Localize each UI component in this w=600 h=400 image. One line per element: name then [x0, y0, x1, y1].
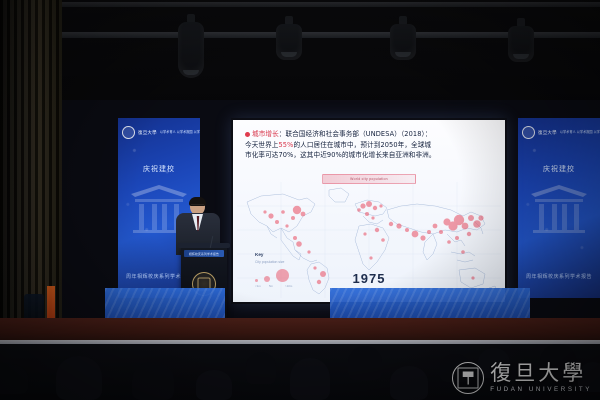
audience-head	[0, 364, 28, 394]
map-year-label: 1975	[353, 271, 386, 286]
banner-tagline: 以学术育人 以学术报国 以学术立功 以学术铸魂	[560, 130, 600, 134]
stage-banner-right: 復旦大學 以学术育人 以学术报国 以学术立功 以学术铸魂 庆祝建校 周年相辉校庆…	[518, 118, 600, 298]
audience-head	[348, 346, 382, 380]
watermark-en: FUDAN UNIVERSITY	[490, 386, 592, 393]
audience-head	[290, 358, 330, 400]
audience-head	[196, 370, 232, 400]
stage-flag	[47, 286, 55, 322]
legend-label-small: <1m	[255, 284, 265, 288]
fudan-seal-icon	[452, 362, 484, 394]
glasses-icon	[191, 204, 204, 208]
banner-logo-cn: 復旦大學	[538, 130, 557, 136]
legend-subtitle: City population size	[255, 260, 325, 264]
legend-title: Key	[255, 252, 325, 257]
legend-dot-medium-icon	[264, 276, 270, 282]
projection-screen: 城市增长：联合国经济和社会事务部（UNDESA）（2018）： 今天世界上55%…	[231, 118, 507, 304]
auditorium-scene: 復旦大學 以学术育人 以学术报国 以学术立功 以学术铸魂 庆祝建校 周年相辉校庆…	[0, 0, 600, 400]
banner-headline: 庆祝建校	[518, 164, 600, 174]
slide-bullet-label: 城市增长	[252, 130, 279, 138]
gate-archway-icon	[527, 180, 591, 236]
slide-line-2b: 的人口居住在城市中，预计到2050年，全球城	[293, 141, 431, 149]
slide-pct: 55%	[278, 141, 293, 149]
banner-tagline: 以学术育人 以学术报国 以学术立功 以学术铸魂	[160, 130, 200, 134]
podium-top-surface	[178, 243, 230, 248]
ceiling	[0, 0, 600, 112]
audience-head	[246, 352, 276, 384]
banner-footline: 周年相辉校庆系列学术报告	[518, 273, 600, 280]
podium-sign: 相辉校庆系列学术报告	[184, 250, 224, 257]
slide-line-3: 市化率可达70%，这其中近90%的城市化增长来自亚洲和非洲。	[245, 151, 436, 159]
audience-head	[390, 366, 428, 400]
legend-label-medium: 5m	[269, 284, 281, 288]
presentation-slide: 城市增长：联合国经济和社会事务部（UNDESA）（2018）： 今天世界上55%…	[233, 120, 505, 302]
stage-led-panel-left	[105, 288, 225, 322]
fudan-seal-icon	[122, 126, 135, 139]
podium-sign-text: 相辉校庆系列学术报告	[189, 252, 219, 256]
banner-logo-right: 復旦大學 以学术育人 以学术报国 以学术立功 以学术铸魂	[522, 126, 596, 139]
banner-logo-cn: 復旦大學	[138, 130, 157, 136]
legend-dot-scale	[255, 268, 325, 282]
map-legend: Key City population size <1m 5m >10m	[255, 252, 325, 288]
slide-line-2a: 今天世界上	[245, 141, 278, 149]
stage-led-panel-right	[330, 288, 530, 322]
slide-line-1: ：联合国经济和社会事务部（UNDESA）（2018）：	[279, 130, 432, 138]
banner-logo-left: 復旦大學 以学术育人 以学术报国 以学术立功 以学术铸魂	[122, 126, 196, 139]
legend-dot-large-icon	[276, 269, 289, 282]
legend-dot-small-icon	[255, 279, 258, 282]
slide-body-text: 城市增长：联合国经济和社会事务部（UNDESA）（2018）： 今天世界上55%…	[245, 129, 495, 161]
fudan-seal-icon	[522, 126, 535, 139]
fudan-watermark: 復旦大學 FUDAN UNIVERSITY	[452, 362, 592, 394]
bullet-dot-icon	[245, 132, 250, 137]
audience-head	[56, 356, 102, 400]
legend-labels: <1m 5m >10m	[255, 284, 325, 288]
truss-beam-upper	[60, 2, 600, 7]
watermark-cn: 復旦大學	[490, 363, 592, 384]
banner-headline: 庆祝建校	[118, 164, 200, 174]
audience-head	[132, 362, 174, 400]
legend-label-large: >10m	[285, 284, 292, 288]
